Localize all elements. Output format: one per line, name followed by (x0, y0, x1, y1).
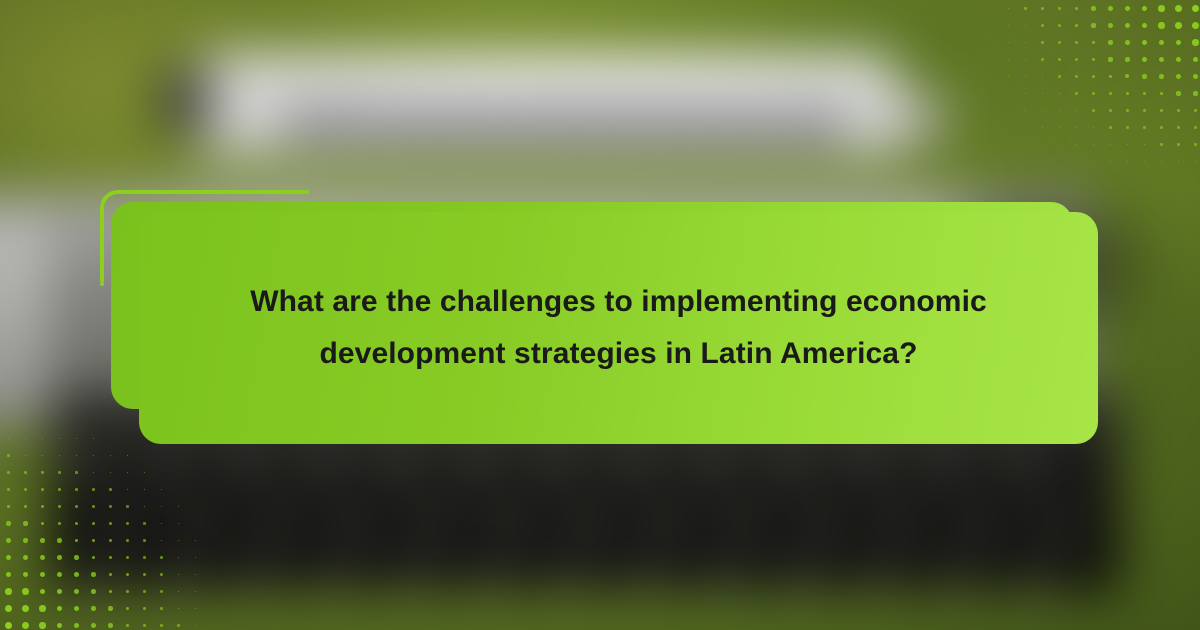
halftone-dot (126, 607, 130, 611)
halftone-dot (160, 607, 163, 610)
halftone-dot (1108, 40, 1112, 44)
question-card: What are the challenges to implementing … (100, 188, 1100, 444)
halftone-dot (1008, 25, 1009, 26)
halftone-dot (24, 488, 27, 491)
halftone-dot (1194, 109, 1197, 112)
halftone-dot (1127, 144, 1129, 146)
halftone-dot (144, 472, 145, 473)
halftone-dot (127, 472, 128, 473)
halftone-dot (1092, 92, 1095, 95)
halftone-dot (41, 522, 45, 526)
halftone-dot (91, 606, 96, 611)
halftone-dot (126, 505, 128, 507)
halftone-dot (1158, 22, 1164, 28)
halftone-dot (1193, 91, 1197, 95)
halftone-dot (1142, 74, 1146, 78)
halftone-dot (42, 438, 43, 439)
halftone-dot (1058, 58, 1061, 61)
halftone-dot (58, 488, 61, 491)
halftone-dot (178, 540, 179, 541)
halftone-dot (178, 523, 179, 524)
halftone-dot (40, 572, 45, 577)
halftone-dot (1125, 6, 1130, 11)
halftone-dot (1058, 24, 1061, 27)
halftone-dot (1176, 74, 1181, 79)
halftone-dot (1025, 25, 1027, 27)
halftone-dot (1143, 126, 1146, 129)
halftone-dot (25, 438, 26, 439)
halftone-dot (1160, 143, 1162, 145)
halftone-dot (195, 591, 196, 592)
halftone-dot (93, 472, 95, 474)
halftone-dot (1142, 23, 1148, 29)
halftone-dot (1194, 126, 1197, 129)
halftone-dot (40, 555, 45, 560)
halftone-dot (110, 455, 111, 456)
halftone-dot (58, 505, 61, 508)
halftone-dot (76, 438, 77, 439)
halftone-dot (109, 573, 113, 577)
halftone-dot (41, 505, 44, 508)
halftone-dot (23, 555, 28, 560)
halftone-dot (1041, 41, 1043, 43)
halftone-dot (74, 623, 79, 628)
halftone-dot (7, 454, 9, 456)
halftone-dot (195, 625, 196, 626)
halftone-dot (1159, 57, 1164, 62)
halftone-dot (161, 489, 162, 490)
halftone-dot (109, 522, 112, 525)
halftone-dot (41, 471, 43, 473)
halftone-dot (1008, 59, 1009, 60)
halftone-dot (75, 471, 77, 473)
halftone-dot (75, 488, 78, 491)
halftone-dot (1160, 92, 1164, 96)
halftone-dot (92, 522, 95, 525)
halftone-dot (1075, 75, 1078, 78)
halftone-dot (109, 539, 112, 542)
halftone-dot (161, 506, 162, 507)
halftone-dot (1092, 41, 1096, 45)
halftone-dot (1091, 6, 1095, 10)
halftone-dot (1092, 109, 1094, 111)
halftone-dot (1110, 144, 1111, 145)
halftone-dot (91, 572, 95, 576)
halftone-dot (178, 557, 180, 559)
halftone-dot (1075, 92, 1077, 94)
halftone-dot (39, 622, 45, 628)
halftone-dot (76, 455, 78, 457)
halftone-dot (22, 622, 29, 629)
halftone-dot (108, 606, 112, 610)
halftone-dot (93, 438, 94, 439)
halftone-dot (160, 590, 162, 592)
halftone-dot (93, 455, 94, 456)
halftone-dot (75, 505, 78, 508)
halftone-dot (1041, 7, 1044, 10)
halftone-dot (23, 521, 27, 525)
halftone-dot (1059, 127, 1060, 128)
halftone-dot (1075, 24, 1079, 28)
halftone-dot (143, 624, 146, 627)
halftone-dot (22, 588, 28, 594)
halftone-dot (1008, 42, 1009, 43)
halftone-dot (1075, 7, 1079, 11)
halftone-dot (23, 538, 28, 543)
halftone-dot (74, 606, 79, 611)
halftone-dot (1024, 7, 1026, 9)
halftone-dot (57, 555, 62, 560)
halftone-dot (1142, 40, 1147, 45)
halftone-dot (75, 539, 79, 543)
halftone-dot (58, 471, 60, 473)
halftone-dot (6, 538, 11, 543)
halftone-dot (144, 489, 145, 490)
halftone-dot (1091, 23, 1095, 27)
halftone-dot (1092, 58, 1096, 62)
halftone-dot (1142, 6, 1148, 12)
halftone-dot (22, 605, 29, 612)
halftone-dot (1093, 144, 1094, 145)
halftone-dot (1126, 109, 1129, 112)
halftone-dot (1144, 144, 1146, 146)
halftone-dot (1175, 5, 1182, 12)
halftone-dot (1142, 57, 1147, 62)
halftone-dot (1176, 57, 1181, 62)
halftone-dot (1041, 24, 1044, 27)
halftone-dot (1108, 23, 1113, 28)
halftone-dot (6, 572, 12, 578)
halftone-dot (23, 572, 29, 578)
halftone-dot (161, 523, 163, 525)
halftone-dot (109, 488, 111, 490)
halftone-dot (74, 555, 78, 559)
halftone-dot (91, 623, 96, 628)
halftone-dot (1075, 58, 1078, 61)
halftone-dots-bottom-left-icon (0, 430, 210, 630)
halftone-dot (6, 521, 10, 525)
halftone-dot (92, 556, 96, 560)
halftone-dot (160, 624, 163, 627)
halftone-dot (1108, 6, 1113, 11)
halftone-dot (1059, 110, 1061, 112)
halftone-dot (1175, 22, 1182, 29)
halftone-dot (57, 538, 61, 542)
halftone-dot (1159, 40, 1165, 46)
halftone-dot (178, 608, 180, 610)
halftone-dot (1059, 93, 1061, 95)
halftone-dot (1193, 74, 1198, 79)
halftone-dot (1109, 75, 1113, 79)
halftone-dot (1125, 57, 1129, 61)
halftone-dot (143, 573, 146, 576)
halftone-dot (126, 590, 129, 593)
halftone-dot (1058, 7, 1061, 10)
halftone-dot (195, 608, 196, 609)
halftone-dot (160, 573, 162, 575)
halftone-dot (1108, 57, 1112, 61)
halftone-dot (1125, 23, 1130, 28)
halftone-dot (1160, 109, 1163, 112)
halftone-dot (126, 556, 129, 559)
halftone-dot (1159, 74, 1164, 79)
halftone-dot (178, 506, 179, 507)
question-text: What are the challenges to implementing … (139, 212, 1098, 444)
halftone-dot (5, 588, 11, 594)
halftone-dot (1158, 5, 1164, 11)
halftone-dot (24, 505, 28, 509)
halftone-dot (39, 605, 45, 611)
halftone-dot (6, 555, 11, 560)
halftone-dot (7, 505, 11, 509)
halftone-dot (161, 540, 163, 542)
halftone-dot (1076, 127, 1077, 128)
halftone-dot (1143, 109, 1146, 112)
halftone-dot (178, 574, 180, 576)
halftone-dot (1109, 92, 1112, 95)
halftone-dot (1126, 126, 1128, 128)
halftone-dot (24, 471, 27, 474)
halftone-dot (1192, 39, 1198, 45)
halftone-dot (1126, 92, 1129, 95)
halftone-dot (57, 606, 63, 612)
halftone-dot (75, 522, 79, 526)
halftone-dot (74, 589, 79, 594)
halftone-dot (40, 538, 45, 543)
question-card-graphic: What are the challenges to implementing … (0, 0, 1200, 630)
halftone-dot (92, 505, 95, 508)
halftone-dot (40, 589, 46, 595)
halftone-dot (1042, 127, 1043, 128)
halftone-dot (1160, 126, 1163, 129)
halftone-dot (1177, 109, 1180, 112)
halftone-dot (1093, 127, 1095, 129)
halftone-dot (127, 455, 128, 456)
halftone-dot (1008, 76, 1009, 77)
halftone-dot (143, 607, 146, 610)
halftone-dot (1110, 161, 1111, 162)
halftone-dot (7, 488, 10, 491)
halftone-dot (1041, 58, 1043, 60)
halftone-dot (195, 574, 196, 575)
halftone-dot (1143, 92, 1147, 96)
halftone-dot (1025, 110, 1026, 111)
halftone-dot (1025, 42, 1027, 44)
halftone-dot (42, 455, 44, 457)
halftone-dot (59, 455, 61, 457)
halftone-dot (1008, 8, 1009, 9)
halftone-dot (1177, 126, 1180, 129)
halftone-dot (126, 539, 129, 542)
halftone-dot (195, 540, 196, 541)
halftone-dot (1025, 76, 1026, 77)
halftone-dot (74, 572, 79, 577)
halftone-dot (1109, 109, 1112, 112)
halftone-dot (1193, 57, 1198, 62)
halftone-dot (1176, 91, 1180, 95)
halftone-dot (1125, 40, 1130, 45)
halftone-dot (57, 623, 63, 629)
halftone-dot (1042, 110, 1043, 111)
halftone-dot (127, 489, 129, 491)
halftone-dot (126, 522, 128, 524)
halftone-dot (1075, 41, 1078, 44)
halftone-dot (1109, 126, 1111, 128)
halftone-dot (1192, 5, 1199, 12)
halftone-dot (59, 438, 60, 439)
halftone-dot (5, 605, 12, 612)
halftone-dot (1025, 59, 1027, 61)
halftone-dot (143, 556, 146, 559)
halftone-dot (1192, 22, 1199, 29)
halftone-dot (1042, 76, 1044, 78)
halftone-dot (1042, 93, 1044, 95)
halftone-dot (143, 522, 145, 524)
halftone-dot (1177, 143, 1179, 145)
halftone-dot (160, 556, 162, 558)
halftone-dot (1076, 110, 1078, 112)
halftone-dot (178, 591, 180, 593)
halftone-dot (8, 438, 9, 439)
halftone-dot (1058, 41, 1061, 44)
halftone-dot (58, 522, 62, 526)
halftone-dot (25, 455, 27, 457)
halftone-dot (92, 488, 94, 490)
halftone-dot (110, 472, 112, 474)
halftone-dot (143, 539, 145, 541)
halftone-dot (1092, 75, 1095, 78)
halftone-dot (144, 506, 146, 508)
halftone-dot (109, 590, 113, 594)
halftone-dot (91, 589, 96, 594)
halftone-dot (109, 556, 113, 560)
halftone-dot (92, 539, 96, 543)
halftone-dot (7, 471, 10, 474)
halftone-dot (1058, 75, 1060, 77)
halftone-dot (126, 624, 130, 628)
halftone-dot (1125, 74, 1129, 78)
halftone-dot (126, 573, 129, 576)
halftone-dot (108, 623, 112, 627)
halftone-dot (1076, 144, 1077, 145)
halftone-dot (177, 624, 179, 626)
halftone-dot (1025, 93, 1026, 94)
halftone-dot (41, 488, 44, 491)
halftone-dot (1176, 40, 1182, 46)
halftone-dot (5, 622, 12, 629)
halftone-dot (109, 505, 111, 507)
halftone-dot (195, 557, 196, 558)
halftone-dot (57, 589, 62, 594)
halftone-dot (57, 572, 62, 577)
halftone-dot (1194, 143, 1196, 145)
halftone-dot (143, 590, 146, 593)
halftone-dots-top-right-icon (1000, 0, 1200, 160)
